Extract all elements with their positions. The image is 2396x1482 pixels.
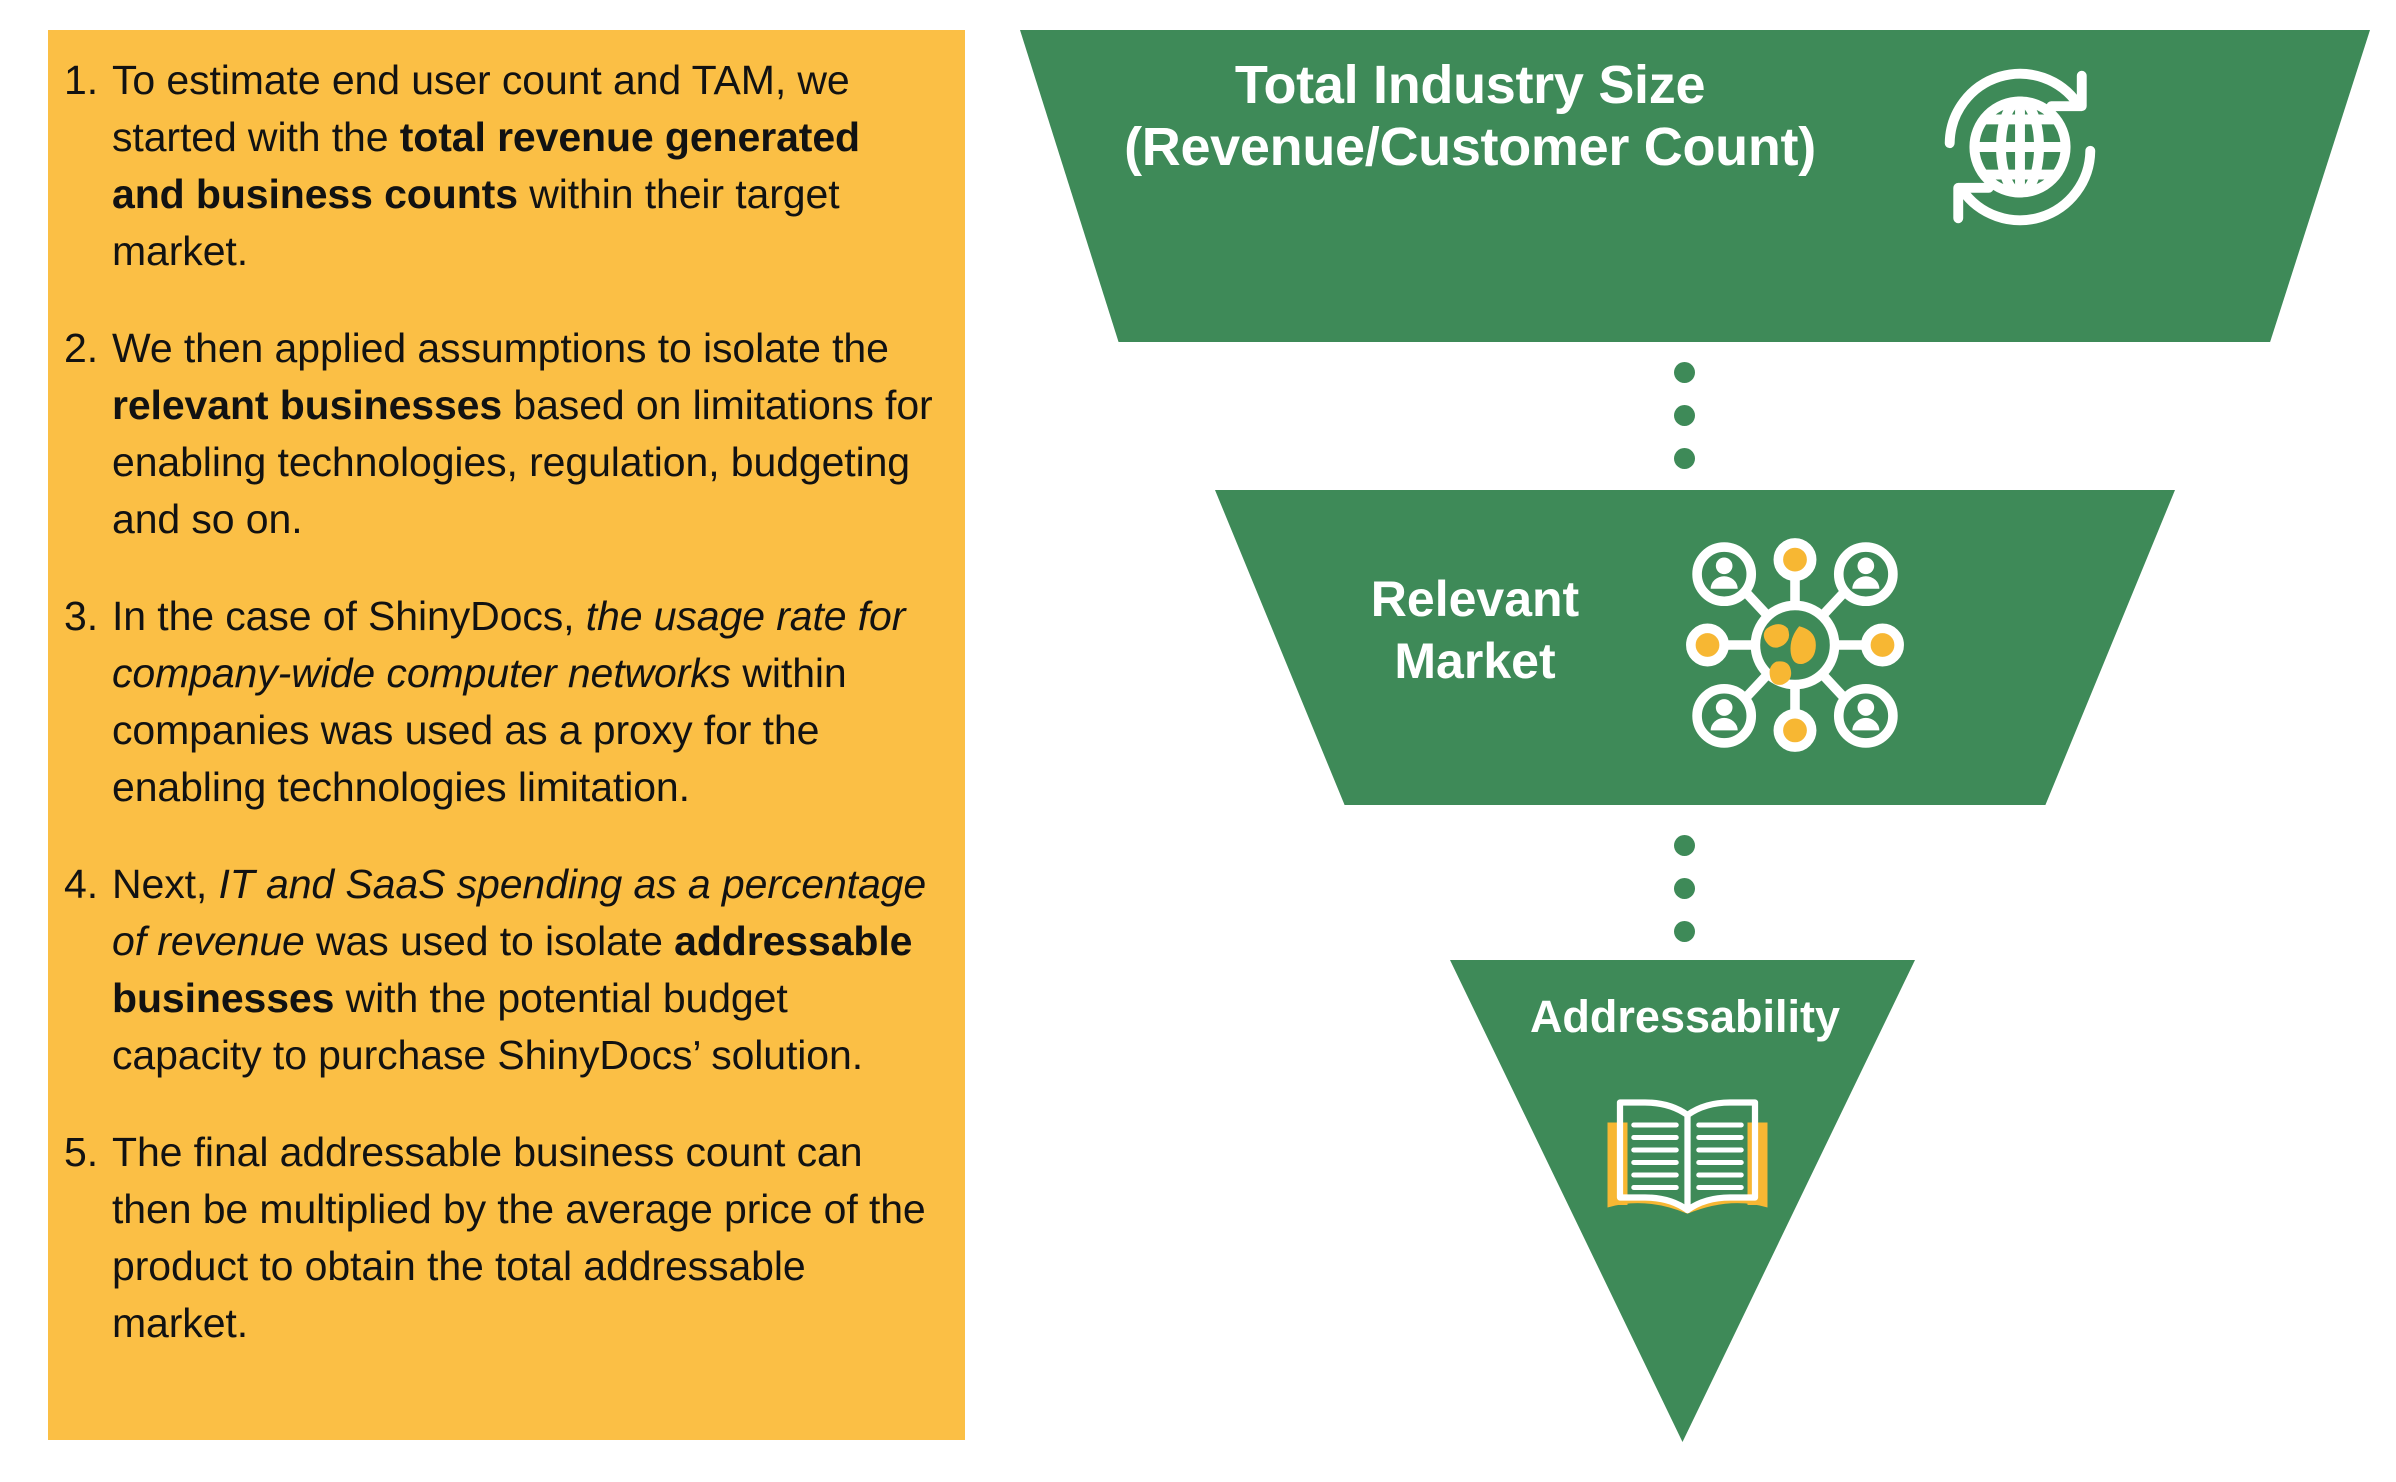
list-item-number: 2. [56,320,112,377]
connector-dot [1674,835,1695,856]
list-item: 3. In the case of ShinyDocs, the usage r… [56,588,939,816]
methodology-notes-panel: 1. To estimate end user count and TAM, w… [48,30,965,1440]
open-book-icon [1600,1090,1775,1220]
funnel-diagram: Total Industry Size (Revenue/Customer Co… [965,0,2396,1482]
list-item-number: 1. [56,52,112,109]
list-item-text: Next, IT and SaaS spending as a percenta… [112,856,939,1084]
funnel-stage-addressability[interactable]: Addressability [1450,960,1915,1442]
list-item: 5. The final addressable business count … [56,1124,939,1352]
funnel-stage-total-industry-size[interactable]: Total Industry Size (Revenue/Customer Co… [1020,30,2370,342]
funnel-stage-label-line1: Addressability [1440,990,1930,1044]
list-item: 2. We then applied assumptions to isolat… [56,320,939,548]
funnel-stage-label-line1: Total Industry Size [1020,54,1920,116]
text-segment-bold: relevant businesses [112,382,502,428]
connector-dot [1674,362,1695,383]
network-globe-icon [1670,530,1920,760]
funnel-stage-label-line1: Relevant [1295,568,1655,630]
text-segment: was used to isolate [305,918,674,964]
funnel-stage-relevant-market[interactable]: Relevant Market [1215,490,2175,805]
list-item: 1. To estimate end user count and TAM, w… [56,52,939,280]
text-segment: We then applied assumptions to isolate t… [112,325,889,371]
funnel-stage-label: Addressability [1440,990,1930,1044]
funnel-stage-label: Relevant Market [1295,568,1655,692]
globe-refresh-icon [1925,52,2115,242]
text-segment: The final addressable business count can… [112,1129,926,1346]
funnel-stage-label-line2: Market [1295,630,1655,692]
funnel-stage-content: Addressability [1450,960,1915,1442]
funnel-stage-label-line2: (Revenue/Customer Count) [1020,116,1920,178]
funnel-stage-content: Total Industry Size (Revenue/Customer Co… [1020,30,2370,342]
text-segment: Next, [112,861,219,907]
list-item-text: The final addressable business count can… [112,1124,939,1352]
list-item-number: 3. [56,588,112,645]
list-item-number: 4. [56,856,112,913]
connector-dot [1674,921,1695,942]
funnel-stage-label: Total Industry Size (Revenue/Customer Co… [1020,54,1920,178]
connector-dot [1674,878,1695,899]
list-item-text: We then applied assumptions to isolate t… [112,320,939,548]
list-item-number: 5. [56,1124,112,1181]
connector-dot [1674,448,1695,469]
connector-dot [1674,405,1695,426]
diagram-canvas: 1. To estimate end user count and TAM, w… [0,0,2396,1482]
list-item: 4. Next, IT and SaaS spending as a perce… [56,856,939,1084]
list-item-text: To estimate end user count and TAM, we s… [112,52,939,280]
text-segment: In the case of ShinyDocs, [112,593,586,639]
list-item-text: In the case of ShinyDocs, the usage rate… [112,588,939,816]
funnel-stage-content: Relevant Market [1215,490,2175,805]
